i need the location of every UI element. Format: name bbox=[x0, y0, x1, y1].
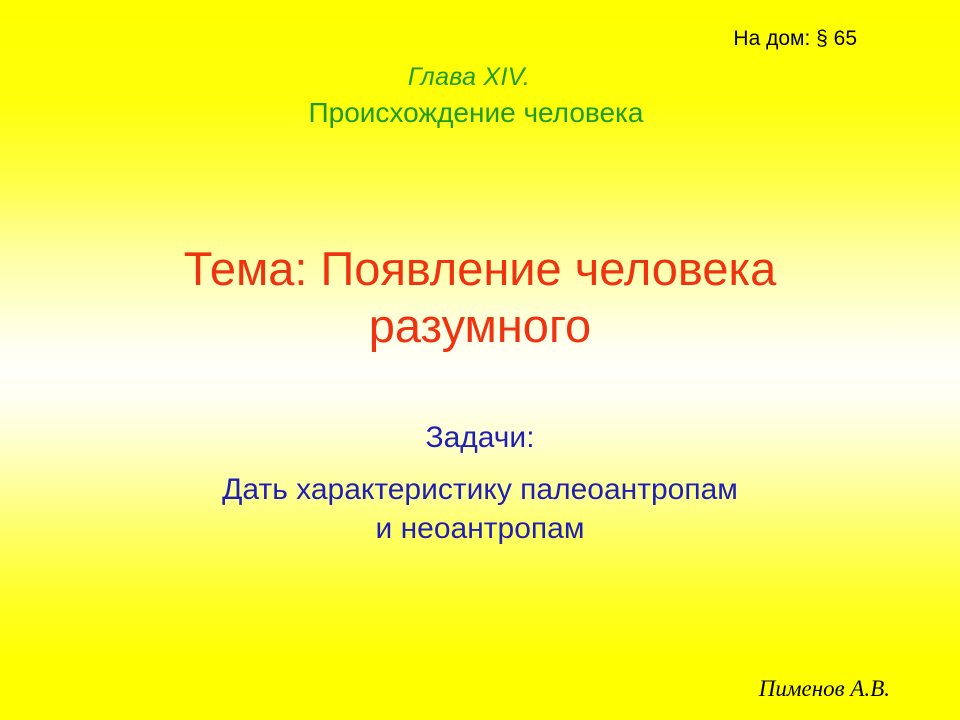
tasks-body-line-1: Дать характеристику палеоантропам bbox=[0, 470, 960, 509]
tasks-heading: Задачи: bbox=[0, 418, 960, 457]
tasks-body: Дать характеристику палеоантропам и неоа… bbox=[0, 470, 960, 548]
homework-assignment-note: На дом: § 65 bbox=[733, 27, 857, 51]
main-title-line-1: Тема: Появление человека bbox=[0, 240, 960, 297]
main-title-line-2: разумного bbox=[0, 297, 960, 354]
chapter-heading-block: Глава XIV. Происхождение человека bbox=[0, 62, 960, 130]
tasks-block: Задачи: Дать характеристику палеоантропа… bbox=[0, 418, 960, 548]
tasks-body-line-2: и неоантропам bbox=[0, 509, 960, 548]
chapter-subject-line: Происхождение человека bbox=[0, 95, 960, 130]
chapter-number-line: Глава XIV. bbox=[0, 62, 960, 92]
slide-main-title: Тема: Появление человека разумного bbox=[0, 240, 960, 355]
presentation-slide: На дом: § 65 Глава XIV. Происхождение че… bbox=[0, 0, 960, 720]
author-credit: Пименов А.В. bbox=[759, 676, 890, 702]
